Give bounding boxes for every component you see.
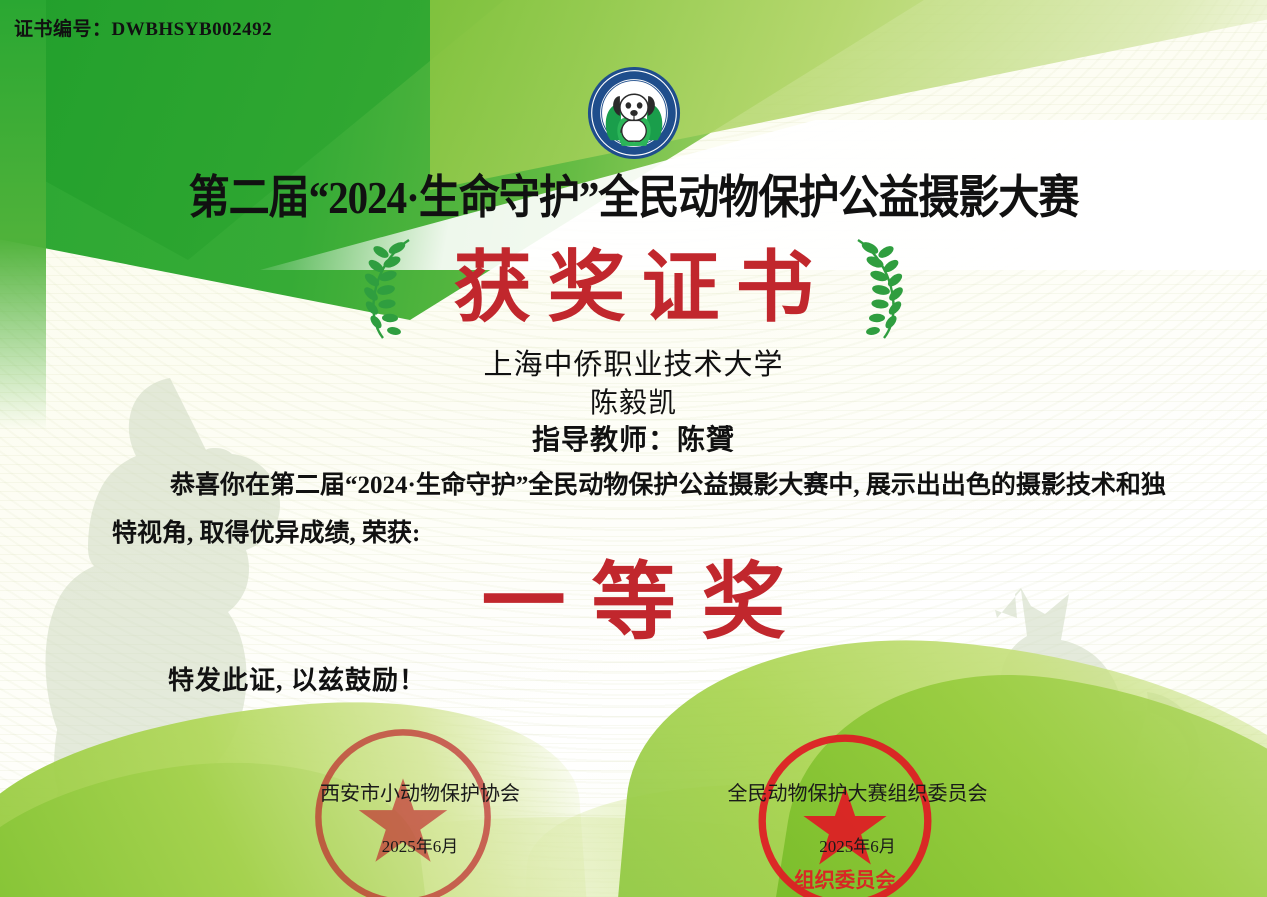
citation-body-text: 恭喜你在第二届“2024·生命守护”全民动物保护公益摄影大赛中, 展示出出色的摄… <box>112 462 1167 557</box>
recipient-teacher: 指导教师：陈贇 <box>0 422 1267 460</box>
dog-in-hands-emblem-icon <box>587 66 681 160</box>
prize-level: 一等奖 <box>0 556 1267 648</box>
recipient-organization: 上海中侨职业技术大学 <box>0 346 1267 385</box>
closing-statement: 特发此证, 以兹鼓励！ <box>168 660 426 697</box>
certificate-page: 证书编号：DWBHSYB002492 第二届“2024·生命守护”全民动物保护公 <box>0 0 1267 897</box>
issuer-name-left: 西安市小动物保护协会 <box>295 777 545 806</box>
recipient-block: 上海中侨职业技术大学 陈毅凯 指导教师：陈贇 <box>0 346 1267 460</box>
association-emblem <box>0 66 1267 160</box>
laurel-branch-left-icon <box>357 236 419 340</box>
issue-date-left: 2025年6月 <box>295 832 545 857</box>
issue-date-right: 2025年6月 <box>725 832 990 857</box>
laurel-branch-right-icon <box>848 236 910 340</box>
signature-block-right: 动 物 保 护 组织委员会 全民动物保护大赛组织委员会 2025年6月 <box>725 777 990 857</box>
award-certificate-heading: 获奖证书 <box>0 236 1267 340</box>
issuer-name-right: 全民动物保护大赛组织委员会 <box>725 777 990 806</box>
page-title: 第二届“2024·生命守护”全民动物保护公益摄影大赛 <box>0 159 1267 226</box>
award-heading-text: 获奖证书 <box>437 249 829 327</box>
signature-block-left: 小 动 物 保 护 协 会 西 安 市 6 1 0 0 0 0 3 1 8 <box>295 777 545 857</box>
certificate-number: 证书编号：DWBHSYB002492 <box>14 14 272 41</box>
recipient-name: 陈毅凯 <box>0 385 1267 423</box>
